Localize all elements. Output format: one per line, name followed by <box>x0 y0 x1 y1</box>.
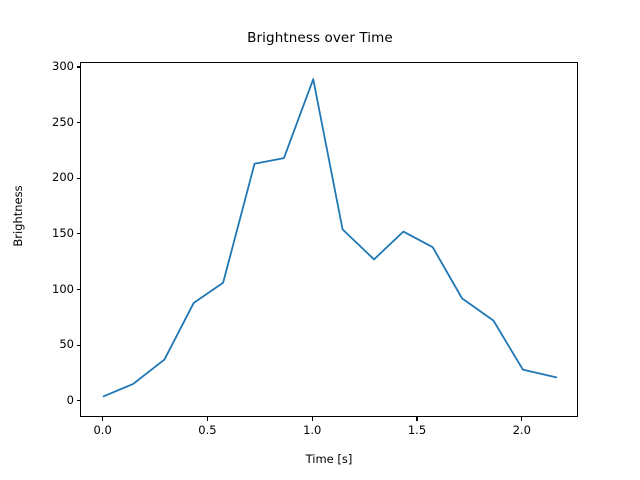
x-tick-mark <box>102 417 103 421</box>
x-tick-label: 2.0 <box>492 423 552 437</box>
y-tick-label: 300 <box>14 59 74 73</box>
y-tick-mark <box>77 289 81 290</box>
y-tick-label: 200 <box>14 170 74 184</box>
x-tick-label: 0.0 <box>73 423 133 437</box>
x-tick-mark <box>416 417 417 421</box>
y-tick-mark <box>77 122 81 123</box>
y-tick-mark <box>77 345 81 346</box>
series-line-brightness <box>104 79 557 396</box>
y-tick-label: 100 <box>14 282 74 296</box>
y-tick-mark <box>77 178 81 179</box>
data-line-svg <box>81 63 579 418</box>
y-axis-label: Brightness <box>11 136 25 296</box>
y-tick-label: 50 <box>14 337 74 351</box>
x-tick-mark <box>207 417 208 421</box>
x-tick-label: 0.5 <box>177 423 237 437</box>
y-tick-label: 250 <box>14 115 74 129</box>
y-tick-mark <box>77 66 81 67</box>
y-tick-label: 0 <box>14 393 74 407</box>
y-tick-mark <box>77 400 81 401</box>
plot-area <box>80 62 578 417</box>
x-tick-mark <box>521 417 522 421</box>
y-tick-mark <box>77 233 81 234</box>
x-tick-mark <box>312 417 313 421</box>
x-tick-label: 1.0 <box>282 423 342 437</box>
x-tick-label: 1.5 <box>387 423 447 437</box>
x-axis-label: Time [s] <box>80 452 578 466</box>
chart-title: Brightness over Time <box>0 30 640 46</box>
y-tick-label: 150 <box>14 226 74 240</box>
matplotlib-figure: Brightness over Time Brightness Time [s]… <box>0 0 640 480</box>
